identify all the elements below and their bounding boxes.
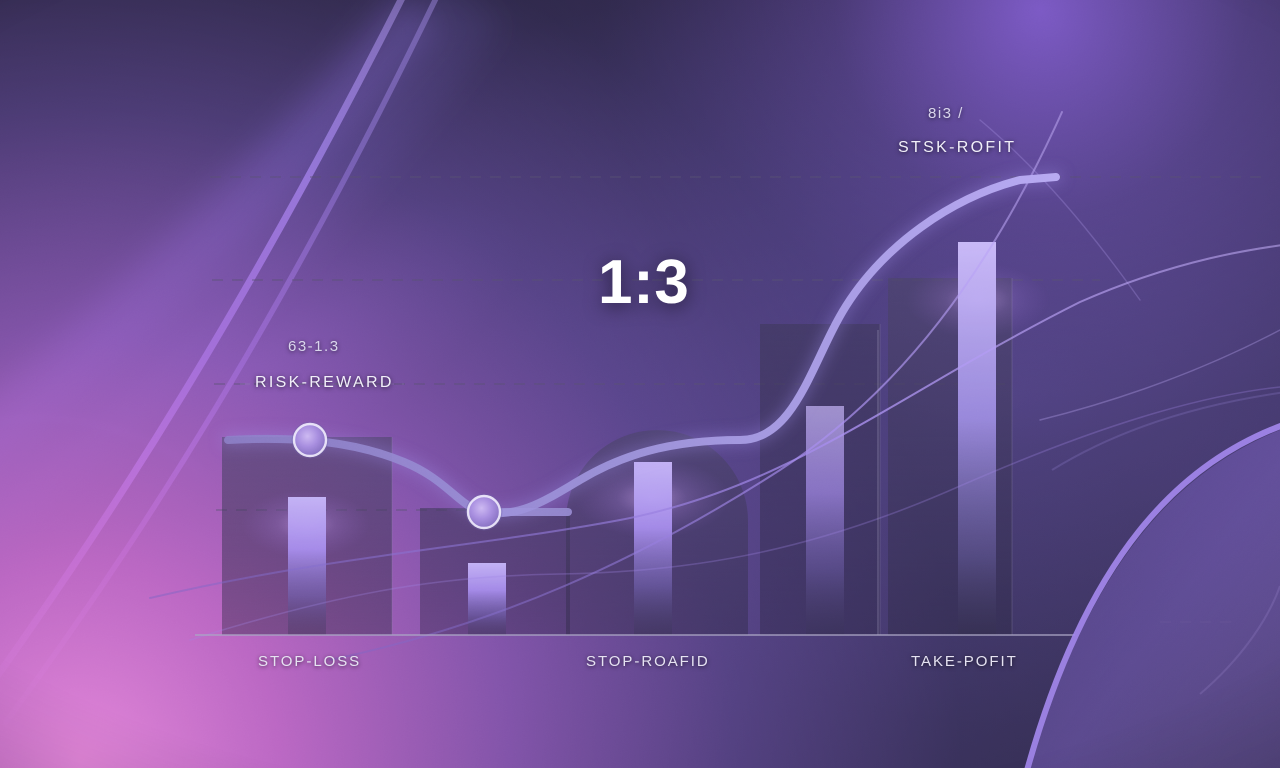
column-separators — [392, 278, 1012, 635]
main-line-series — [228, 177, 1056, 513]
gridlines — [210, 177, 1265, 622]
ratio-badge: 1:3 — [598, 247, 689, 318]
value-bar — [468, 563, 506, 635]
accent-curve — [330, 112, 1062, 660]
value-bar — [806, 406, 844, 635]
background-bar — [760, 324, 880, 635]
x-tick-label-stop-roafid: STOP-ROAFID — [586, 653, 710, 670]
x-tick-label-stop-loss: STOP-LOSS — [258, 653, 361, 670]
accent-curve — [150, 244, 1280, 598]
data-point-marker — [466, 494, 503, 531]
background-bar-domed — [566, 430, 748, 635]
hero-chart-canvas: 63-1.3 RISK-REWARD 8i3 / STSK-ROFIT 1:3 … — [0, 0, 1280, 768]
background-bars — [222, 278, 1012, 635]
background-bar — [888, 278, 1012, 635]
background-bar — [420, 508, 570, 635]
value-bar — [288, 497, 326, 635]
data-point-marker — [292, 422, 329, 459]
main-line — [228, 177, 1056, 513]
right-callout-value: 8i3 / — [928, 105, 964, 122]
main-line-glow — [228, 177, 1056, 513]
value-bar — [958, 242, 996, 635]
accent-curve — [1040, 330, 1280, 420]
accent-curve — [190, 386, 1280, 640]
line-markers — [292, 422, 503, 531]
background-bar — [222, 437, 392, 635]
left-callout-value: 63-1.3 — [288, 338, 340, 355]
right-callout-label: STSK-ROFIT — [898, 139, 1016, 157]
x-tick-label-take-pofit: TAKE-POFIT — [911, 653, 1018, 670]
left-callout-label: RISK-REWARD — [255, 374, 394, 392]
value-bar — [634, 462, 672, 635]
